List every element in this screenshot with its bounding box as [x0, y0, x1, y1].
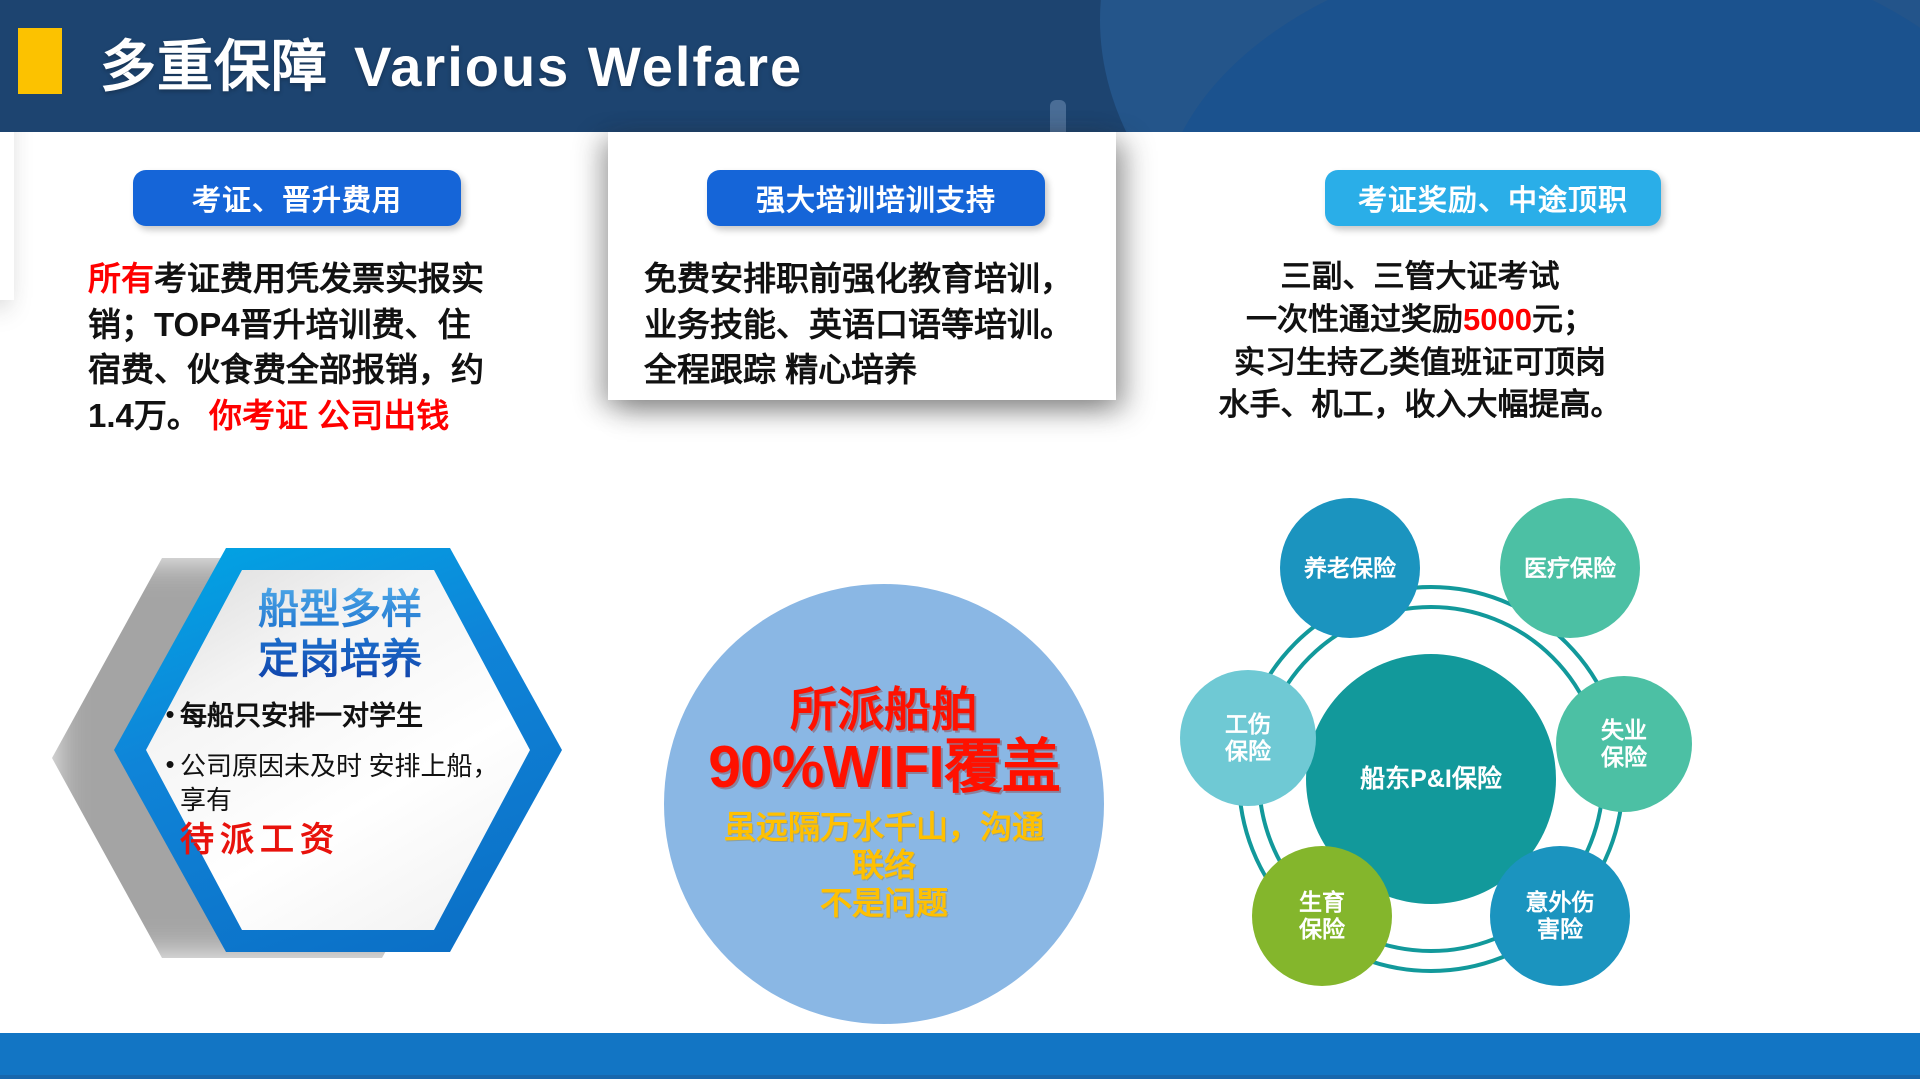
hexagon-wage-highlight: 待派工资	[180, 819, 522, 863]
body-text: 三副、三管大证考试	[1281, 259, 1560, 294]
body-text: 1.4万。	[88, 397, 209, 434]
column-1-body-text: 所有考证费用凭发票实报实销；TOP4晋升培训费、住宿费、伙食费全部报销，约1.4…	[88, 256, 558, 438]
page-title: 多重保障Various Welfare	[100, 22, 803, 103]
body-text: 业务技能、英语口语等培训。	[644, 306, 1073, 343]
slide-canvas: 多重保障Various Welfare 考证、晋升费用 强大培训培训支持 考证奖…	[0, 0, 1920, 1079]
body-text: 宿费、伙食费全部报销，约	[88, 351, 484, 388]
slide-header: 多重保障Various Welfare	[0, 0, 1920, 132]
hexagon-bullet-2-body: 公司原因未及时 安排上船，享有 待派工资	[180, 750, 522, 864]
hexagon-title-line-2: 定岗培养	[160, 634, 520, 684]
body-text: 一次性通过奖励	[1246, 302, 1463, 337]
list-item: • 每船只安排一对学生	[160, 700, 522, 734]
circle-gold-line-2: 联络	[724, 846, 1044, 884]
text-line: 业务技能、英语口语等培训。	[644, 302, 1124, 348]
hexagon-card: 船型多样 定岗培养 • 每船只安排一对学生 • 公司原因未及时 安排上船，享有 …	[52, 548, 562, 968]
bubble-pension-insurance: 养老保险	[1280, 498, 1420, 638]
page-title-cn: 多重保障	[100, 35, 328, 98]
page-title-en: Various Welfare	[354, 35, 803, 98]
text-line: 水手、机工，收入大幅提高。	[1150, 384, 1690, 427]
circle-gold-text: 虽远隔万水千山，沟通 联络 不是问题	[724, 808, 1044, 923]
text-line: 一次性通过奖励5000元；	[1150, 299, 1690, 342]
hexagon-title-line-1: 船型多样	[160, 584, 520, 634]
text-line: 免费安排职前强化教育培训，	[644, 256, 1124, 302]
circle-gold-line-3: 不是问题	[724, 884, 1044, 922]
highlight-text: 所有	[88, 260, 154, 297]
badge-certification-promotion-fee[interactable]: 考证、晋升费用	[133, 170, 461, 226]
column-2-body-text: 免费安排职前强化教育培训，业务技能、英语口语等培训。全程跟踪 精心培养	[644, 256, 1124, 393]
bubble-accident-injury-insurance: 意外伤 害险	[1490, 846, 1630, 986]
hexagon-title: 船型多样 定岗培养	[160, 584, 520, 684]
insurance-bubble-diagram: 船东P&I保险 养老保险 医疗保险 工伤 保险 失业 保险 生育 保险 意外伤 …	[1160, 480, 1700, 1040]
text-line: 实习生持乙类值班证可顶岗	[1150, 342, 1690, 385]
text-line: 所有考证费用凭发票实报实	[88, 256, 558, 302]
badge-exam-reward-midway-promotion[interactable]: 考证奖励、中途顶职	[1325, 170, 1661, 226]
wifi-coverage-circle: 所派船舶 90%WIFI覆盖 虽远隔万水千山，沟通 联络 不是问题	[664, 584, 1104, 1024]
body-text: 实习生持乙类值班证可顶岗	[1234, 345, 1606, 380]
text-line: 1.4万。 你考证 公司出钱	[88, 393, 558, 439]
bullet-icon: •	[160, 750, 180, 779]
text-line: 销；TOP4晋升培训费、住	[88, 302, 558, 348]
bubble-medical-insurance: 医疗保险	[1500, 498, 1640, 638]
circle-red-line-2: 90%WIFI覆盖	[708, 736, 1060, 800]
hexagon-bullet-1-text: 每船只安排一对学生	[180, 700, 522, 734]
body-text: 元；	[1532, 302, 1594, 337]
header-tab-notch	[1050, 100, 1066, 132]
circle-gold-line-1: 虽远隔万水千山，沟通	[724, 808, 1044, 846]
body-text: 考证费用凭发票实报实	[154, 260, 484, 297]
highlight-text: 你考证 公司出钱	[209, 397, 449, 434]
text-line: 宿费、伙食费全部报销，约	[88, 347, 558, 393]
hexagon-bullet-2-text: 公司原因未及时 安排上船，享有	[180, 752, 499, 815]
text-line: 全程跟踪 精心培养	[644, 347, 1124, 393]
bubble-maternity-insurance: 生育 保险	[1252, 846, 1392, 986]
body-text: 全程跟踪 精心培养	[644, 351, 917, 388]
header-yellow-marker-icon	[18, 28, 62, 94]
highlight-text: 5000	[1463, 302, 1532, 337]
text-line: 三副、三管大证考试	[1150, 256, 1690, 299]
list-item: • 公司原因未及时 安排上船，享有 待派工资	[160, 750, 522, 864]
bubble-work-injury-insurance: 工伤 保险	[1180, 670, 1316, 806]
hexagon-bullet-list: • 每船只安排一对学生 • 公司原因未及时 安排上船，享有 待派工资	[160, 700, 522, 880]
body-text: 免费安排职前强化教育培训，	[644, 260, 1073, 297]
body-text: 销；TOP4晋升培训费、住	[88, 306, 471, 343]
badge-training-support[interactable]: 强大培训培训支持	[707, 170, 1045, 226]
body-text: 水手、机工，收入大幅提高。	[1219, 387, 1622, 422]
column-3-body-text: 三副、三管大证考试一次性通过奖励5000元；实习生持乙类值班证可顶岗水手、机工，…	[1150, 256, 1690, 427]
circle-red-line-1: 所派船舶	[790, 685, 978, 736]
bullet-icon: •	[160, 700, 180, 729]
bubble-unemployment-insurance: 失业 保险	[1556, 676, 1692, 812]
